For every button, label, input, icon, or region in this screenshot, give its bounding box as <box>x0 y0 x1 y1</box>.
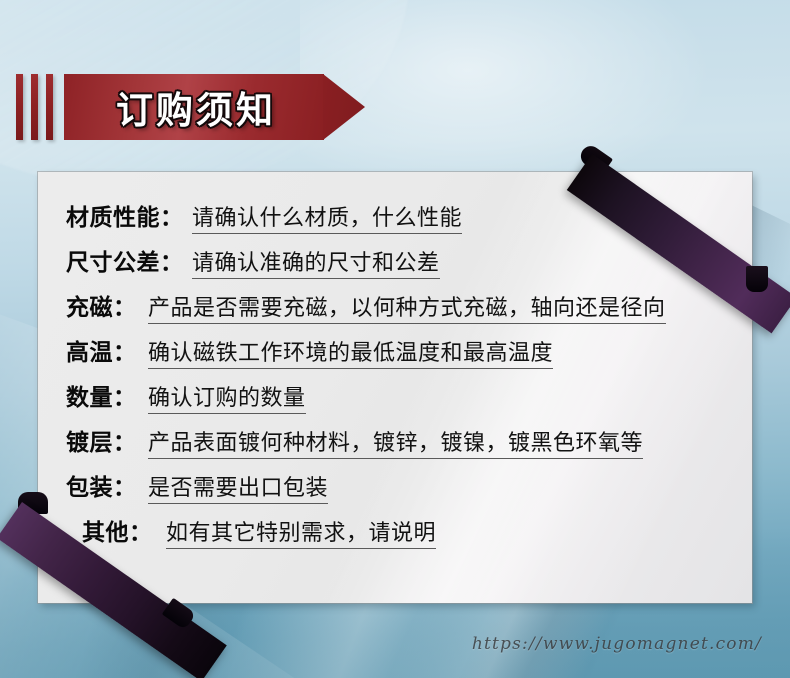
spec-value: 产品是否需要充磁，以何种方式充磁，轴向还是径向 <box>148 296 666 324</box>
spec-row-coating: 镀层 ： 产品表面镀何种材料，镀锌，镀镍，镀黑色环氧等 <box>66 423 756 468</box>
banner-tick-bar-icon <box>16 74 23 140</box>
spec-colon: ： <box>160 243 183 277</box>
spec-row-material: 材质性能 ： 请确认什么材质，什么性能 <box>66 198 756 243</box>
promo-banner-page: 订购须知 材质性能 ： 请确认什么材质，什么性能 尺寸公差 ： 请确认准确的尺寸… <box>0 0 790 678</box>
banner-tick-bar-icon <box>46 74 53 140</box>
banner-body: 订购须知 <box>64 74 324 140</box>
spec-value: 确认磁铁工作环境的最低温度和最高温度 <box>148 341 553 369</box>
header-banner: 订购须知 <box>0 74 365 140</box>
spec-label: 镀层 <box>66 423 113 457</box>
banner-arrow-icon <box>323 74 365 140</box>
spec-value: 请确认什么材质，什么性能 <box>192 206 462 234</box>
spec-label: 材质性能 <box>66 198 160 232</box>
spec-colon: ： <box>113 378 136 412</box>
spec-value: 确认订购的数量 <box>148 386 306 414</box>
order-requirements-list: 材质性能 ： 请确认什么材质，什么性能 尺寸公差 ： 请确认准确的尺寸和公差 充… <box>66 198 756 558</box>
spec-colon: ： <box>129 513 152 547</box>
spec-label: 充磁 <box>66 288 113 322</box>
spec-colon: ： <box>113 423 136 457</box>
spec-colon: ： <box>113 288 136 322</box>
spec-label: 数量 <box>66 378 113 412</box>
spec-row-temperature: 高温 ： 确认磁铁工作环境的最低温度和最高温度 <box>66 333 756 378</box>
spec-row-dimension-tolerance: 尺寸公差 ： 请确认准确的尺寸和公差 <box>66 243 756 288</box>
spec-value: 是否需要出口包装 <box>148 476 328 504</box>
spec-label: 其他 <box>82 513 129 547</box>
spec-colon: ： <box>160 198 183 232</box>
spec-value: 请确认准确的尺寸和公差 <box>192 251 440 279</box>
spec-row-quantity: 数量 ： 确认订购的数量 <box>66 378 756 423</box>
spec-row-packaging: 包装 ： 是否需要出口包装 <box>66 468 756 513</box>
spec-row-magnetization: 充磁 ： 产品是否需要充磁，以何种方式充磁，轴向还是径向 <box>66 288 756 333</box>
banner-tick-bar-icon <box>31 74 38 140</box>
spec-label: 高温 <box>66 333 113 367</box>
spec-value: 产品表面镀何种材料，镀锌，镀镍，镀黑色环氧等 <box>148 431 643 459</box>
spec-row-other: 其他 ： 如有其它特别需求，请说明 <box>66 513 756 558</box>
page-title: 订购须知 <box>116 80 276 134</box>
spec-label: 包装 <box>66 468 113 502</box>
spec-colon: ： <box>113 468 136 502</box>
spec-label: 尺寸公差 <box>66 243 160 277</box>
site-url-watermark: https://www.jugomagnet.com/ <box>472 634 762 654</box>
spec-value: 如有其它特别需求，请说明 <box>166 521 436 549</box>
spec-colon: ： <box>113 333 136 367</box>
